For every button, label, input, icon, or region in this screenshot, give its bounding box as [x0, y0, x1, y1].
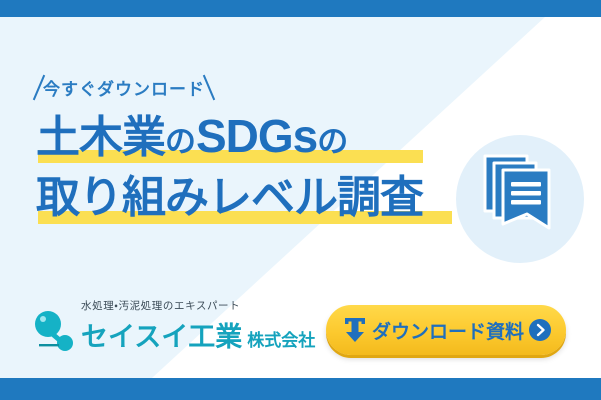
logo-company-suffix: 株式会社 [247, 326, 315, 351]
logo-name-row: セイスイ工業 株式会社 [81, 315, 315, 354]
headline-line1-particle: の [165, 124, 196, 159]
headline-line-2: 取り組みレベル調査 [36, 167, 466, 228]
promo-banner: 今すぐダウンロード 土木業のSDGsの 取り組みレベル調査 水処理・汚泥処理のエ… [0, 0, 601, 400]
logo-company-name: セイスイ工業 [81, 315, 242, 354]
water-drop-logo-icon [33, 308, 77, 356]
documents-icon [479, 152, 563, 236]
company-logo: 水処理・汚泥処理のエキスパート セイスイ工業 株式会社 [33, 300, 315, 356]
chevron-right-icon [528, 318, 552, 342]
headline: 土木業のSDGsの 取り組みレベル調査 [36, 106, 466, 228]
logo-tagline: 水処理・汚泥処理のエキスパート [81, 298, 315, 313]
headline-line1-main: 土木業 [36, 113, 165, 162]
download-cta-button[interactable]: ダウンロード資料 [326, 305, 566, 355]
bottom-accent-bar [0, 378, 601, 400]
download-arrow-icon [342, 316, 368, 344]
kicker-label: 今すぐダウンロード [40, 75, 208, 100]
headline-line1-tail: の [317, 124, 348, 159]
kicker-eyebrow: 今すぐダウンロード [38, 72, 210, 102]
headline-line2-text: 取り組みレベル調査 [36, 173, 423, 222]
top-accent-bar [0, 0, 601, 17]
download-cta-label: ダウンロード資料 [368, 317, 528, 344]
logo-text-block: 水処理・汚泥処理のエキスパート セイスイ工業 株式会社 [81, 298, 315, 356]
headline-line1-latin: SDGs [196, 110, 317, 162]
headline-line-1: 土木業のSDGsの [36, 106, 466, 167]
